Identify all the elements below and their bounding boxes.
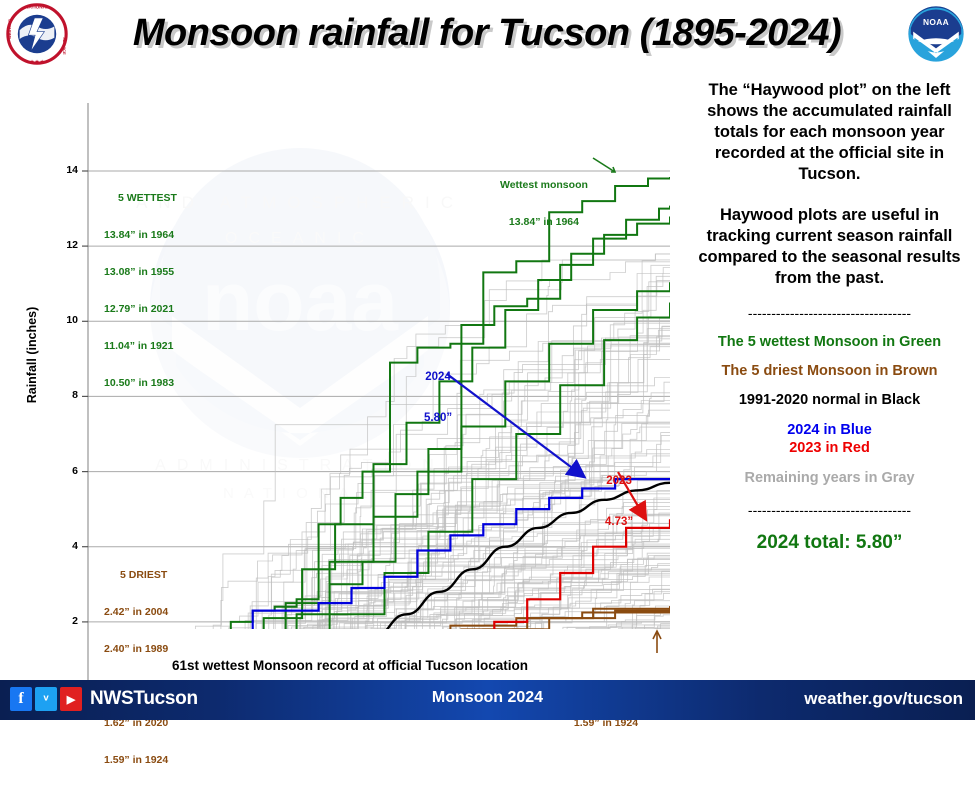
driest-row: 2.42” in 2004: [104, 606, 168, 618]
annotation-line: 2023: [605, 475, 633, 489]
legend-remaining: Remaining years in Gray: [690, 470, 969, 486]
legend-normal: 1991-2020 normal in Black: [690, 392, 969, 408]
driest-row: 1.59” in 1924: [104, 754, 168, 766]
page-header: NATIONAL ★ ★ ★ WEATHER SERVICE Monsoon r…: [0, 0, 975, 68]
y-tick-label: 8: [52, 389, 78, 401]
svg-text:OCEANIC: OCEANIC: [225, 230, 375, 247]
footer-website-link[interactable]: weather.gov/tucson: [804, 689, 963, 709]
wettest-list-header: 5 WETTEST: [104, 192, 177, 204]
side-text-panel: The “Haywood plot” on the left shows the…: [684, 68, 975, 680]
legend-2024: 2024 in Blue: [690, 422, 969, 438]
annotation-2023: 2023 4.73”: [605, 448, 633, 557]
noaa-logo: NOAA: [905, 4, 967, 64]
svg-text:NATIONAL: NATIONAL: [25, 5, 49, 10]
legend-driest: The 5 driest Monsoon in Brown: [690, 363, 969, 379]
wettest-row: 12.79” in 2021: [104, 303, 177, 315]
y-tickmarks: [82, 171, 88, 680]
haywood-plot: noaa AND ATMOSPHERIC OCEANIC ADMINISTRAT…: [0, 68, 682, 680]
divider-top: -----------------------------------: [690, 305, 969, 321]
annotation-line: Wettest monsoon: [500, 179, 588, 191]
legend-2023: 2023 in Red: [690, 440, 969, 456]
divider-bottom: -----------------------------------: [690, 502, 969, 518]
annotation-line: 4.73”: [605, 516, 633, 530]
description-paragraph-2: Haywood plots are useful in tracking cur…: [690, 205, 969, 289]
annotation-2024: 2024 5.80”: [424, 344, 452, 453]
y-tick-label: 2: [52, 615, 78, 627]
svg-text:NOAA: NOAA: [923, 17, 949, 27]
wettest-row: 10.50” in 1983: [104, 377, 177, 389]
driest-list-header: 5 DRIEST: [104, 569, 168, 581]
wettest-list: 5 WETTEST 13.84” in 1964 13.08” in 1955 …: [104, 167, 177, 415]
x-axis-caption: 61st wettest Monsoon record at official …: [40, 658, 660, 673]
y-tick-label: 12: [52, 239, 78, 251]
annotation-wettest-monsoon: Wettest monsoon 13.84” in 1964: [500, 154, 588, 253]
page-footer: f ᵛ ▶ NWSTucson Monsoon 2024 weather.gov…: [0, 680, 975, 720]
wettest-row: 13.84” in 1964: [104, 229, 177, 241]
driest-row: 2.40” in 1989: [104, 643, 168, 655]
y-tick-label: 14: [52, 164, 78, 176]
svg-text:noaa: noaa: [202, 254, 399, 348]
legend-wettest: The 5 wettest Monsoon in Green: [690, 334, 969, 350]
nws-logo: NATIONAL ★ ★ ★ WEATHER SERVICE: [6, 3, 68, 65]
svg-text:★ ★ ★: ★ ★ ★: [29, 59, 44, 64]
svg-text:SERVICE: SERVICE: [62, 37, 67, 55]
svg-text:AND ATMOSPHERIC: AND ATMOSPHERIC: [136, 193, 464, 212]
annotation-line: 2024: [424, 371, 452, 385]
svg-text:NATIONAL: NATIONAL: [223, 485, 377, 502]
y-axis-label: Rainfall (inches): [25, 295, 39, 415]
annotation-line: 13.84” in 1964: [500, 216, 588, 228]
annotation-line: 5.80”: [424, 412, 452, 426]
description-paragraph-1: The “Haywood plot” on the left shows the…: [690, 80, 969, 186]
y-tick-label: 4: [52, 540, 78, 552]
y-tick-label: 10: [52, 314, 78, 326]
season-total: 2024 total: 5.80”: [690, 532, 969, 554]
page-title: Monsoon rainfall for Tucson (1895-2024): [92, 5, 882, 61]
svg-text:WEATHER: WEATHER: [7, 19, 12, 39]
y-tick-label: 6: [52, 465, 78, 477]
wettest-row: 13.08” in 1955: [104, 266, 177, 278]
chart-panel: noaa AND ATMOSPHERIC OCEANIC ADMINISTRAT…: [0, 68, 682, 680]
wettest-row: 11.04” in 1921: [104, 340, 177, 352]
